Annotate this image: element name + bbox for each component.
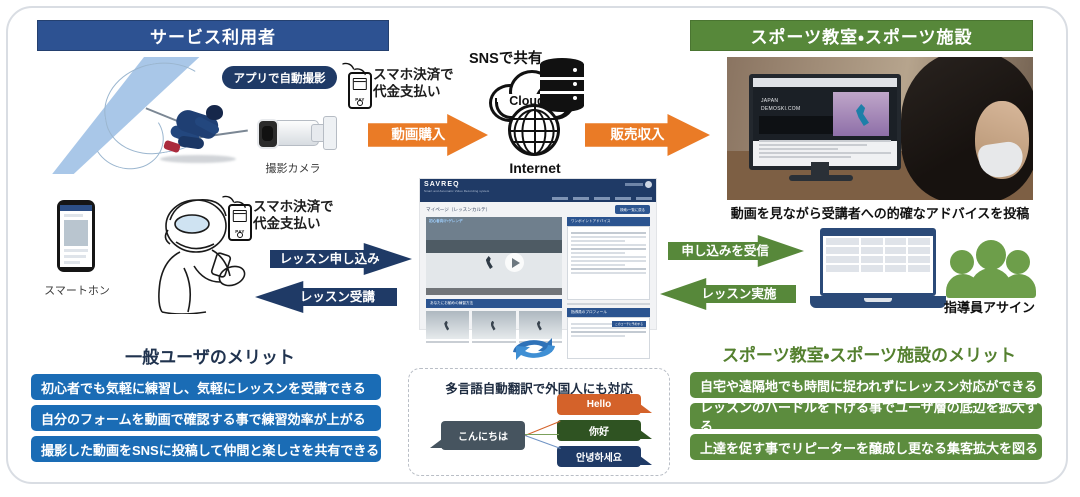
facility-merit-item-2: レッスンのハードルを下げる事でユーザ層の底辺を拡大する bbox=[690, 403, 1042, 429]
arrow-lesson-apply-label: レッスン申し込み bbox=[280, 253, 380, 266]
app-tagline: Smart and Automatic Video Recording syst… bbox=[424, 189, 652, 193]
globe-icon bbox=[508, 104, 560, 156]
pay-label-bottom-line2: 代金支払い bbox=[253, 216, 353, 233]
facility-merit-item-1: 自宅や遠隔地でも時間に捉われずにレッスン対応ができる bbox=[690, 372, 1042, 398]
app-advice-title: ワンポイントアドバイス bbox=[567, 217, 650, 226]
app-header: SAVREQ Smart and Automatic Video Recordi… bbox=[420, 179, 656, 202]
target-bubble-zh: 你好 bbox=[557, 420, 641, 441]
facility-laptop-icon bbox=[820, 228, 936, 310]
facility-merit-item-3: 上達を促す事でリピーターを醸成し更なる集客拡大を図る bbox=[690, 434, 1042, 460]
target-bubble-en-text: Hello bbox=[587, 399, 611, 410]
source-bubble: こんにちは bbox=[441, 421, 525, 450]
user-merit-item-2: 自分のフォームを動画で確認する事で練習効率が上がる bbox=[31, 405, 381, 431]
smartphone-device bbox=[57, 200, 95, 272]
target-bubble-ko: 안녕하세요 bbox=[557, 446, 641, 467]
user-merit-item-3-text: 撮影した動画をSNSに投稿して仲間と楽しさを共有できる bbox=[41, 440, 379, 459]
skier-figure bbox=[154, 99, 244, 165]
source-bubble-text: こんにちは bbox=[458, 428, 508, 443]
app-nav[interactable] bbox=[552, 197, 652, 200]
coach-monitor: JAPANDEMOSKI.COM bbox=[749, 74, 901, 170]
target-bubble-ko-text: 안녕하세요 bbox=[576, 449, 622, 464]
pay-label-top-line1: スマホ決済で bbox=[373, 67, 463, 84]
app-logo: SAVREQ bbox=[424, 181, 652, 188]
coach-photo-caption: 動画を見ながら受講者への的確なアドバイスを投稿 bbox=[724, 203, 1036, 222]
app-profile-title: 指導員のプロフィール bbox=[567, 308, 650, 317]
app-subbar: マイページ（レッスンカルテ） 検索・一覧に戻る bbox=[420, 202, 656, 217]
app-reserve-button[interactable]: このコーチに予約する bbox=[612, 321, 646, 327]
app-profile-panel: このコーチに予約する bbox=[567, 317, 650, 359]
pay-label-bottom-line1: スマホ決済で bbox=[253, 199, 353, 216]
facility-merit-item-2-text: レッスンのハードルを下げる事でユーザ層の底辺を拡大する bbox=[700, 397, 1042, 435]
pay-label-top-line2: 代金支払い bbox=[373, 84, 463, 101]
facility-merits-title: スポーツ教室・スポーツ施設のメリット bbox=[700, 341, 1038, 366]
sync-refresh-icon bbox=[505, 330, 563, 368]
arrow-lesson-delivery-label: レッスン実施 bbox=[701, 288, 776, 301]
connector-ko bbox=[525, 435, 561, 449]
app-video-player[interactable]: 初心者向け・ゲレンデ bbox=[426, 217, 562, 295]
smartphone-caption: スマートホン bbox=[37, 282, 117, 298]
assign-caption: 指導員アサイン bbox=[944, 297, 1064, 316]
auto-record-pill: アプリで自動撮影 bbox=[222, 66, 337, 89]
header-banner-service-users: サービス利用者 bbox=[37, 20, 389, 51]
database-icon bbox=[540, 58, 584, 112]
app-clips-title: あなたにお勧めの練習方法 bbox=[426, 299, 562, 308]
app-back-button[interactable]: 検索・一覧に戻る bbox=[615, 205, 650, 214]
camera-icon bbox=[253, 110, 339, 156]
target-bubble-zh-text: 你好 bbox=[589, 423, 609, 438]
user-merits-title: 一般ユーザのメリット bbox=[100, 343, 320, 368]
coach-photo: JAPANDEMOSKI.COM bbox=[727, 57, 1033, 200]
translation-box: 多言語自動翻訳で外国人にも対応 こんにちは Hello 你好 안녕하세요 bbox=[408, 368, 670, 476]
user-merit-item-2-text: 自分のフォームを動画で確認する事で練習効率が上がる bbox=[41, 409, 366, 428]
target-bubble-en: Hello bbox=[557, 394, 641, 415]
clip-thumb[interactable] bbox=[426, 311, 469, 339]
facility-merit-item-1-text: 自宅や遠隔地でも時間に捉われずにレッスン対応ができる bbox=[700, 376, 1037, 395]
arrow-lesson-take-label: レッスン受講 bbox=[300, 291, 375, 304]
user-merit-item-3: 撮影した動画をSNSに投稿して仲間と楽しさを共有できる bbox=[31, 436, 381, 462]
arrow-video-purchase-label: 動画購入 bbox=[391, 128, 445, 142]
sns-share-label: SNSで共有 bbox=[469, 47, 542, 68]
arrow-receive-application-label: 申し込みを受信 bbox=[681, 245, 769, 258]
pay-label-top: スマホ決済で 代金支払い bbox=[373, 67, 463, 101]
internet-label: Internet bbox=[485, 160, 585, 176]
user-merit-item-1-text: 初心者でも気軽に練習し、気軽にレッスンを受講できる bbox=[41, 378, 366, 397]
pay-label-bottom: スマホ決済で 代金支払い bbox=[253, 199, 353, 233]
app-account[interactable] bbox=[625, 181, 652, 188]
camera-caption: 撮影カメラ bbox=[243, 160, 343, 176]
user-merit-item-1: 初心者でも気軽に練習し、気軽にレッスンを受講できる bbox=[31, 374, 381, 400]
play-icon[interactable] bbox=[505, 253, 524, 272]
savreq-app-mockup[interactable]: SAVREQ Smart and Automatic Video Recordi… bbox=[419, 178, 657, 330]
arrow-sales-revenue-label: 販売収入 bbox=[611, 128, 665, 142]
connector-zh bbox=[525, 434, 559, 435]
diagram-canvas: サービス利用者 スポーツ教室・スポーツ施設 アプリで自動撮影 撮影カメラ bbox=[0, 0, 1080, 497]
app-breadcrumb: マイページ（レッスンカルテ） bbox=[426, 207, 490, 213]
facility-merit-item-3-text: 上達を促す事でリピーターを醸成し更なる集客拡大を図る bbox=[700, 438, 1038, 457]
instructors-people-icon bbox=[948, 236, 1034, 298]
app-advice-panel bbox=[567, 226, 650, 300]
app-video-title: 初心者向け・ゲレンデ bbox=[429, 219, 463, 224]
header-banner-sports-facility: スポーツ教室・スポーツ施設 bbox=[690, 20, 1033, 51]
